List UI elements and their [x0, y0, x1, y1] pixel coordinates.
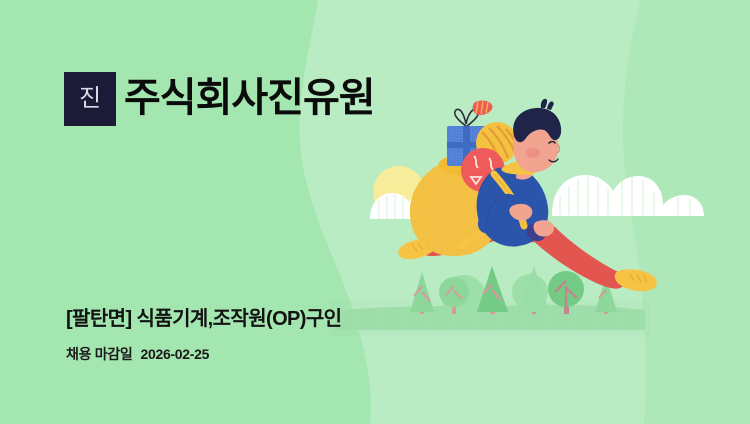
application-deadline: 채용 마감일2026-02-25: [66, 344, 209, 364]
company-name: 주식회사진유원: [124, 70, 375, 126]
deadline-label: 채용 마감일: [66, 346, 133, 362]
job-posting-title: [팔탄면] 식품기계,조작원(OP)구인: [66, 302, 341, 331]
deadline-date: 2026-02-25: [141, 346, 210, 362]
company-logo-badge: 진: [64, 72, 116, 126]
job-posting-banner: 진 주식회사진유원 [팔탄면] 식품기계,조작원(OP)구인 채용 마감일202…: [0, 0, 750, 424]
logo-mark-text: 진: [79, 87, 101, 111]
